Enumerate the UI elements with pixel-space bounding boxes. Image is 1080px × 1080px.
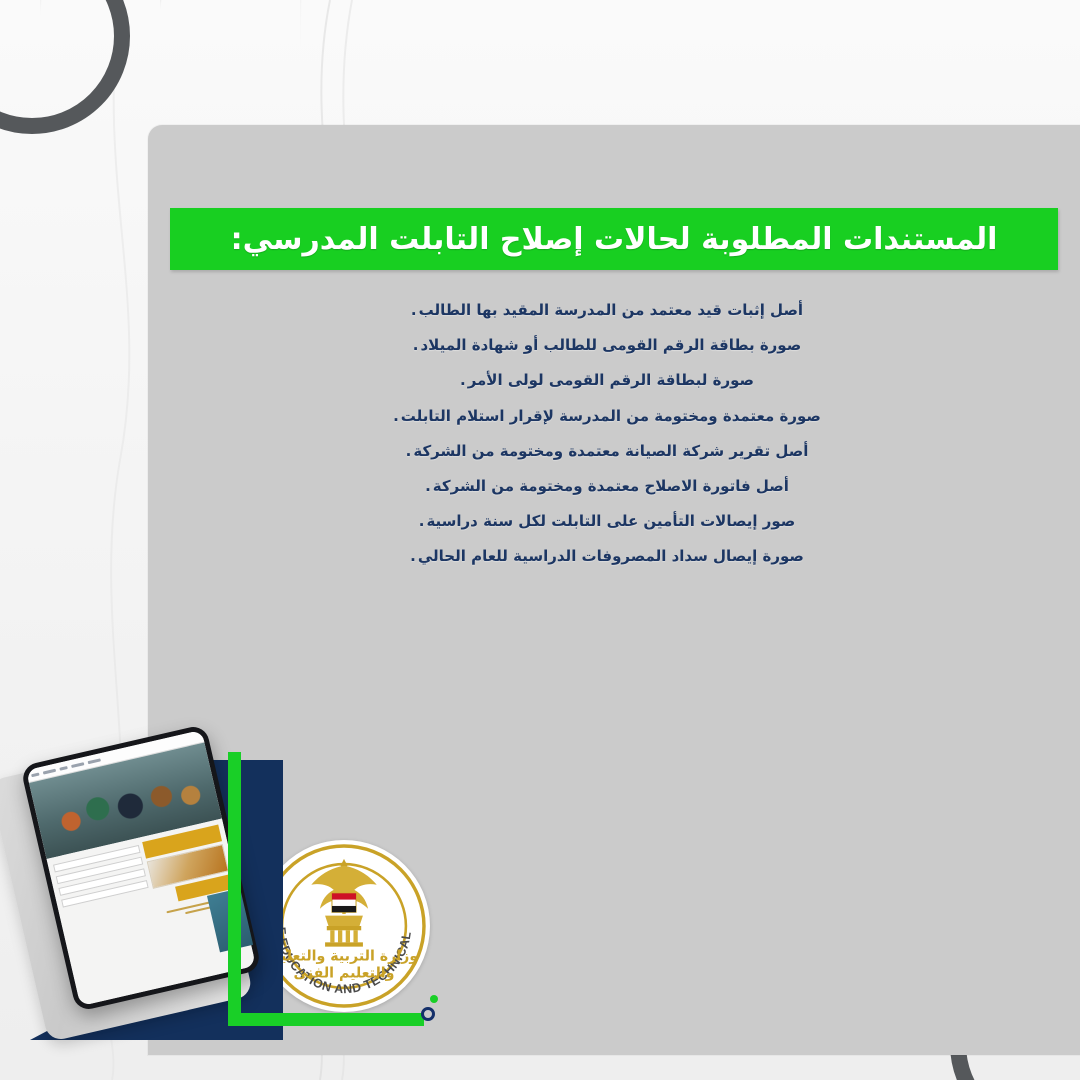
bullet-marker: . xyxy=(460,371,466,389)
emblem-arabic-line-2: والتعليم الفنى xyxy=(293,966,394,982)
list-item-text: أصل تقرير شركة الصيانة معتمدة ومختومة من… xyxy=(413,442,808,460)
list-item: أصل فاتورة الاصلاح معتمدة ومختومة من الش… xyxy=(148,469,1066,504)
bullet-marker: . xyxy=(411,301,417,319)
bullet-marker: . xyxy=(419,512,425,530)
bullet-marker: . xyxy=(425,477,431,495)
nav-item xyxy=(88,758,101,764)
list-item-text: صورة لبطاقة الرقم القومى لولى الأمر xyxy=(468,371,754,389)
list-item-text: صورة بطاقة الرقم القومى للطالب أو شهادة … xyxy=(420,336,801,354)
list-item: صورة معتمدة ومختومة من المدرسة لإقرار اس… xyxy=(148,399,1066,434)
school-tablet-mockup xyxy=(18,738,288,1038)
bullet-marker: . xyxy=(406,442,412,460)
required-documents-list: أصل إثبات قيد معتمد من المدرسة المقيد به… xyxy=(148,293,1066,575)
list-item: صورة إيصال سداد المصروفات الدراسية للعام… xyxy=(148,539,1066,574)
decorative-ring-top-left xyxy=(0,0,130,134)
nav-item xyxy=(59,766,67,771)
green-accent-horizontal xyxy=(228,1013,424,1026)
page-title: المستندات المطلوبة لحالات إصلاح التابلت … xyxy=(231,222,998,257)
nav-item xyxy=(31,772,39,777)
bullet-marker: . xyxy=(410,547,416,565)
poster-canvas: المستندات المطلوبة لحالات إصلاح التابلت … xyxy=(0,0,1080,1080)
list-item-text: صور إيصالات التأمين على التابلت لكل سنة … xyxy=(426,512,795,530)
list-item-text: صورة معتمدة ومختومة من المدرسة لإقرار اس… xyxy=(401,407,821,425)
list-item: أصل إثبات قيد معتمد من المدرسة المقيد به… xyxy=(148,293,1066,328)
green-dot-icon xyxy=(430,995,438,1003)
nav-item xyxy=(71,762,84,768)
list-item-text: أصل إثبات قيد معتمد من المدرسة المقيد به… xyxy=(419,301,804,319)
title-banner: المستندات المطلوبة لحالات إصلاح التابلت … xyxy=(170,208,1058,270)
navy-ring-dot-icon xyxy=(421,1007,435,1021)
nav-item xyxy=(43,768,56,774)
list-item: أصل تقرير شركة الصيانة معتمدة ومختومة من… xyxy=(148,434,1066,469)
list-item: صورة بطاقة الرقم القومى للطالب أو شهادة … xyxy=(148,328,1066,363)
list-item-text: أصل فاتورة الاصلاح معتمدة ومختومة من الش… xyxy=(433,477,789,495)
list-item-text: صورة إيصال سداد المصروفات الدراسية للعام… xyxy=(418,547,804,565)
list-item: صورة لبطاقة الرقم القومى لولى الأمر. xyxy=(148,363,1066,398)
bullet-marker: . xyxy=(413,336,419,354)
emblem-arabic-line-1: وزارة التربية والتعليم xyxy=(270,948,418,964)
bullet-marker: . xyxy=(393,407,399,425)
list-item: صور إيصالات التأمين على التابلت لكل سنة … xyxy=(148,504,1066,539)
green-accent-vertical xyxy=(228,752,241,1026)
